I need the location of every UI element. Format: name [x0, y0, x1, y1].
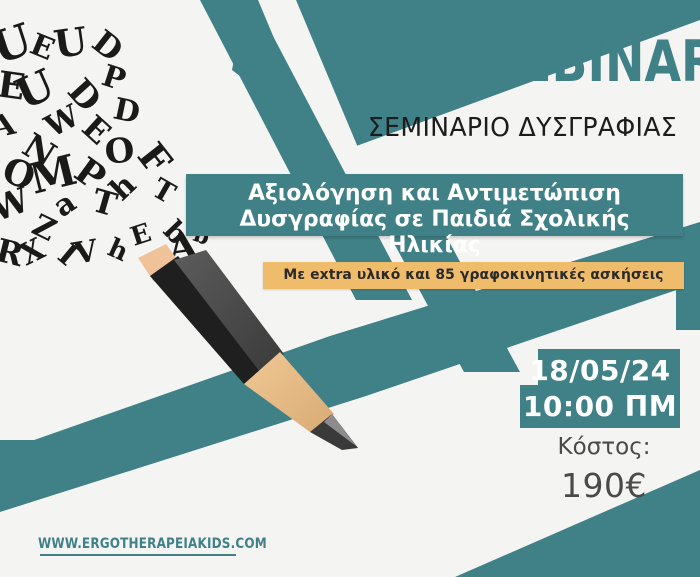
webinar-kicker: WEBINAR: [467, 34, 679, 91]
svg-text:F: F: [129, 134, 181, 183]
extra-material-banner: Με extra υλικό και 85 γραφοκινητικές ασκ…: [263, 262, 684, 289]
webinar-time: 10:00 ΠΜ: [520, 390, 680, 423]
extra-material-text: Με extra υλικό και 85 γραφοκινητικές ασκ…: [267, 262, 680, 289]
webinar-date: 18/05/24: [520, 354, 680, 387]
svg-text:U: U: [51, 18, 90, 67]
webinar-poster: U E U D E U D P A N W E D O M P O F W Z …: [0, 0, 700, 577]
svg-text:V: V: [70, 233, 101, 268]
cost-value: 190€: [524, 466, 684, 505]
date-time-box: 18/05/24 10:00 ΠΜ: [520, 349, 680, 428]
website-underline: [40, 554, 236, 556]
cost-label: Κόστος:: [524, 434, 684, 460]
svg-text:A: A: [0, 107, 19, 146]
title-line-2: Δυσγραφίας σε Παιδιά Σχολικής Ηλικίας: [193, 206, 675, 258]
svg-text:D: D: [110, 92, 143, 132]
website-url[interactable]: WWW.ERGOTHERAPEIAKIDS.COM: [38, 536, 231, 552]
seminar-subtitle: ΣΕΜΙΝΑΡΙΟ ΔΥΣΓΡΑΦΙΑΣ: [355, 113, 690, 143]
title-line-1: Αξιολόγηση και Αντιμετώπιση: [193, 180, 675, 206]
title-banner: Αξιολόγηση και Αντιμετώπιση Δυσγραφίας σ…: [186, 174, 683, 236]
svg-text:O: O: [103, 130, 137, 173]
